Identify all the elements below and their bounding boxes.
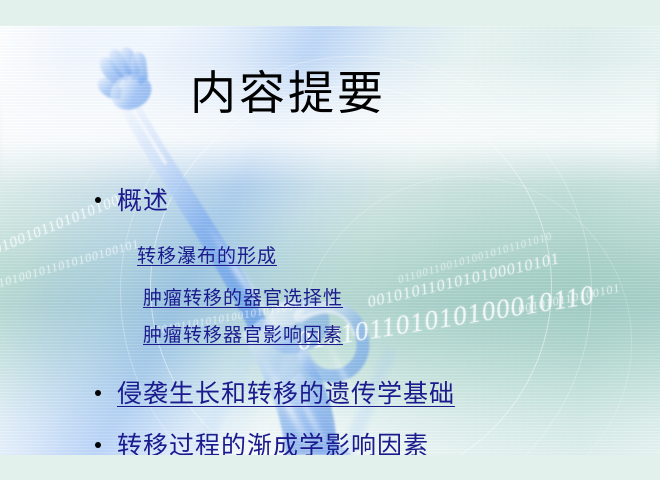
bullet-label: 概述	[117, 189, 169, 214]
bullet-label: 转移过程的渐成学影响因素	[117, 434, 429, 455]
sub-item-organ-influencing-factors[interactable]: 肿瘤转移器官影响因素	[143, 326, 343, 345]
bullet-label: 侵袭生长和转移的遗传学基础	[117, 382, 455, 407]
slide-top-band	[0, 0, 660, 26]
slide-content: 内容提要 概述 转移瀑布的形成 肿瘤转移的器官选择性 肿瘤转移器官影响因素 侵袭…	[0, 26, 660, 455]
bullet-dot-icon	[95, 197, 101, 203]
bullet-item-overview[interactable]: 概述	[95, 189, 169, 214]
slide-canvas: 010100101101010100 010100101101010010010…	[0, 26, 660, 455]
slide-bottom-band	[0, 455, 660, 480]
bullet-dot-icon	[95, 390, 101, 396]
sub-item-organ-selectivity[interactable]: 肿瘤转移的器官选择性	[143, 289, 343, 308]
presentation-slide: 010100101101010100 010100101101010010010…	[0, 0, 660, 480]
bullet-item-genetic-basis[interactable]: 侵袭生长和转移的遗传学基础	[95, 382, 455, 407]
sub-item-metastatic-cascade[interactable]: 转移瀑布的形成	[137, 247, 277, 266]
bullet-item-epigenetic-factors[interactable]: 转移过程的渐成学影响因素	[95, 434, 429, 455]
slide-title: 内容提要	[190, 70, 386, 118]
bullet-dot-icon	[95, 442, 101, 448]
